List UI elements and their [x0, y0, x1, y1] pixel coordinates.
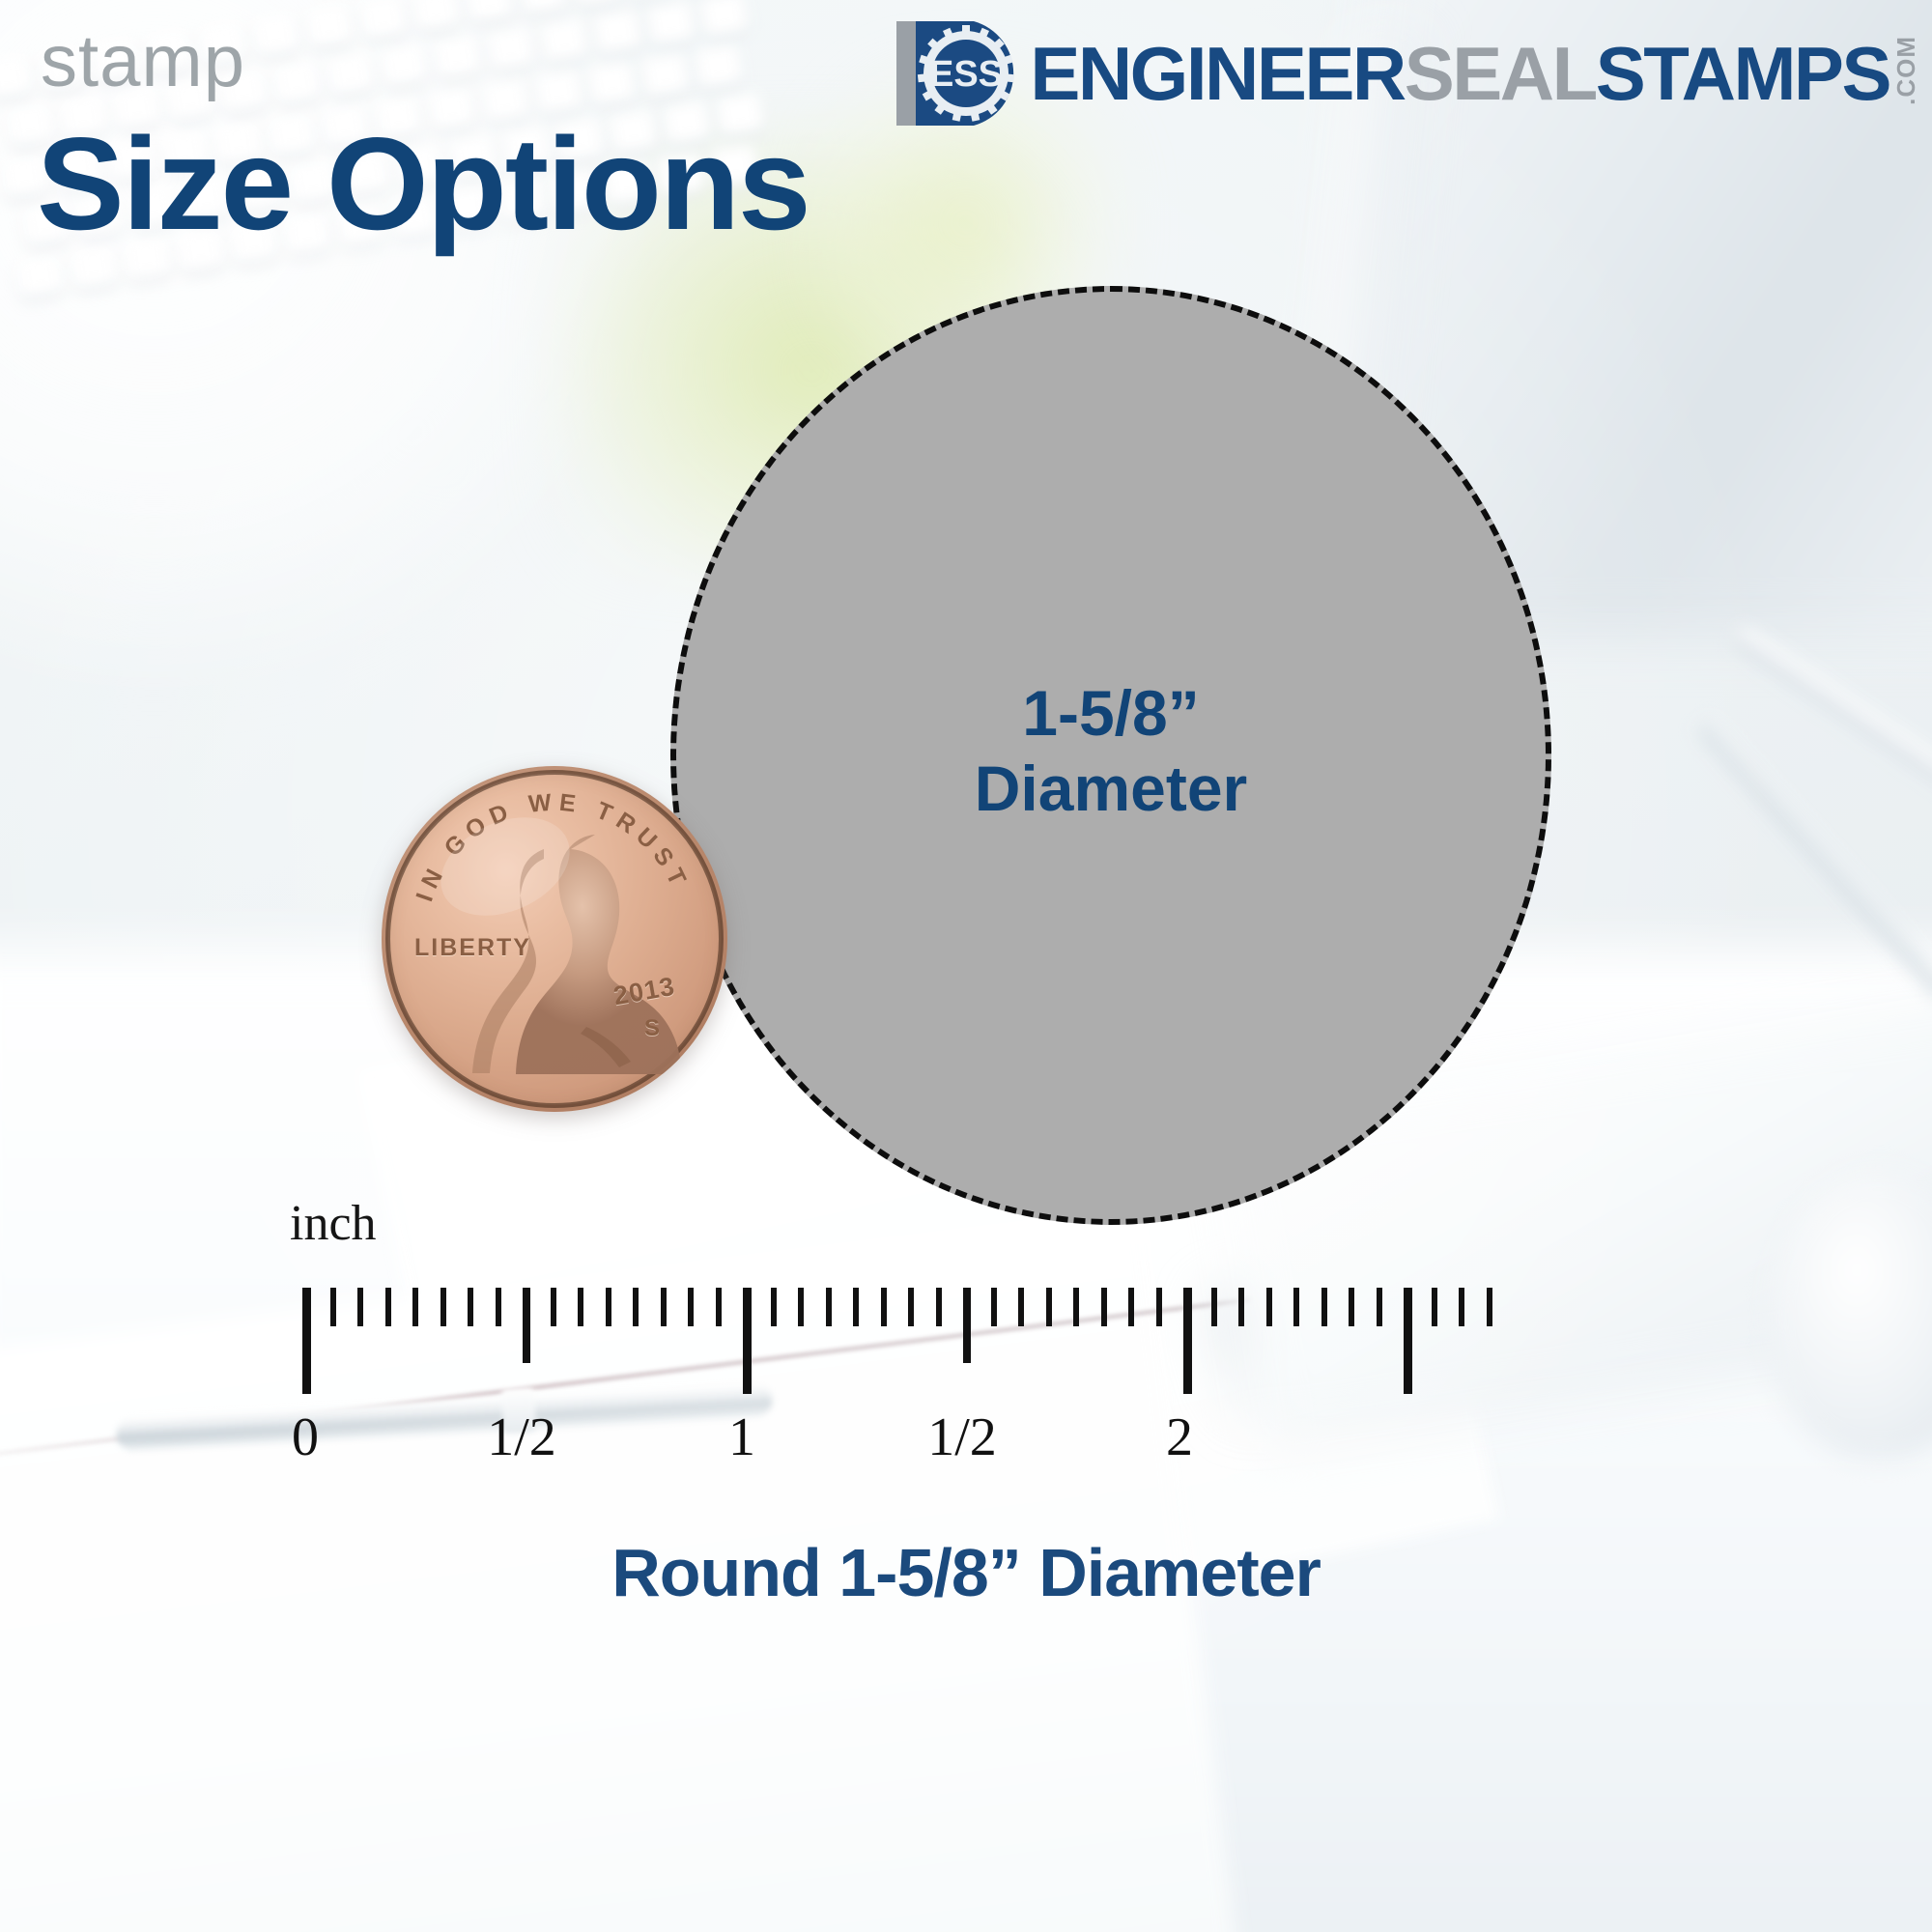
svg-text:ESS: ESS	[929, 54, 1003, 95]
logo-wordmark: ENGINEER SEAL STAMPS .COM	[1030, 36, 1918, 111]
page-title: Size Options	[37, 118, 810, 249]
size-caption: Round 1-5/8” Diameter	[0, 1534, 1932, 1611]
reference-penny: IN GOD WE TRUST LIBERTY 2013 S	[382, 766, 727, 1112]
ess-shield-icon: ESS	[891, 15, 1026, 131]
stamp-size-line-2: Diameter	[670, 752, 1551, 827]
size-options-graphic: stamp Size Options	[0, 0, 1932, 1932]
eyebrow-label: stamp	[41, 25, 245, 99]
logo-word-seal: SEAL	[1405, 36, 1596, 111]
brand-logo[interactable]: ESS ENGINEER SEAL STAMPS .COM	[891, 15, 1918, 131]
logo-word-dotcom: .COM	[1893, 36, 1918, 105]
stamp-size-label: 1-5/8” Diameter	[670, 676, 1551, 827]
stamp-size-line-1: 1-5/8”	[670, 676, 1551, 752]
penny-mint-mark: S	[644, 1015, 660, 1042]
penny-liberty-text: LIBERTY	[414, 934, 531, 962]
logo-word-engineer: ENGINEER	[1030, 36, 1404, 111]
logo-word-stamps: STAMPS	[1596, 36, 1889, 111]
